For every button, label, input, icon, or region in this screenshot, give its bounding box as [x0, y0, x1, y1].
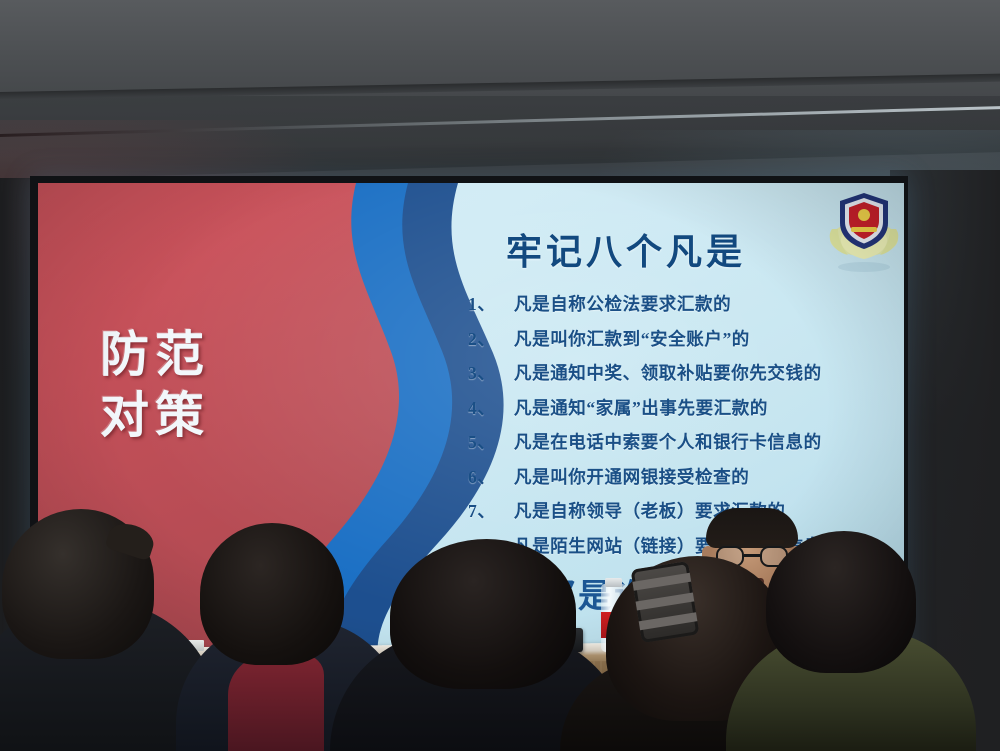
list-item-number: 6、: [468, 464, 514, 489]
hair-clip-bar: [636, 593, 695, 611]
slide-title: 牢记八个凡是: [446, 223, 806, 275]
police-badge-icon: [824, 189, 904, 275]
audience-member-head: [390, 539, 576, 689]
list-item: 4、 凡是通知“家属”出事先要汇款的: [468, 395, 898, 420]
list-item-text: 凡是自称公检法要求汇款的: [514, 291, 898, 316]
slide-left-title: 防范 对策: [100, 325, 330, 447]
slide-left-title-line1: 防范: [100, 325, 330, 386]
list-item-number: 1、: [468, 291, 514, 316]
list-item-number: 3、: [468, 360, 514, 385]
list-item: 6、 凡是叫你开通网银接受检查的: [468, 464, 898, 489]
list-item-text: 凡是通知中奖、领取补贴要你先交钱的: [514, 360, 898, 385]
audience-member-head: [766, 531, 916, 673]
list-item-text: 凡是叫你汇款到“安全账户”的: [514, 326, 898, 351]
police-badge-svg: [824, 189, 904, 275]
list-item-number: 5、: [468, 429, 514, 454]
list-item: 5、 凡是在电话中索要个人和银行卡信息的: [468, 429, 898, 454]
hair-clip-icon: [631, 561, 700, 643]
list-item-text: 凡是在电话中索要个人和银行卡信息的: [514, 429, 898, 454]
list-item: 1、 凡是自称公检法要求汇款的: [468, 291, 898, 316]
list-item-text: 凡是叫你开通网银接受检查的: [514, 464, 898, 489]
list-item: 2、 凡是叫你汇款到“安全账户”的: [468, 326, 898, 351]
conference-room-scene: 防范 对策 牢记八个凡是 1、 凡是自称公检法要求: [0, 0, 1000, 751]
audience-red-jacket: [228, 655, 324, 751]
slide-left-title-line2: 对策: [100, 386, 330, 447]
list-item-number: 4、: [468, 395, 514, 420]
list-item-number: 7、: [468, 498, 514, 523]
hair-clip-bar: [632, 573, 691, 591]
list-item: 3、 凡是通知中奖、领取补贴要你先交钱的: [468, 360, 898, 385]
hair-clip-bar: [639, 612, 698, 630]
list-item-text: 凡是通知“家属”出事先要汇款的: [514, 395, 898, 420]
audience-member-head: [200, 523, 344, 665]
audience-group: [0, 521, 1000, 751]
list-item-number: 2、: [468, 326, 514, 351]
